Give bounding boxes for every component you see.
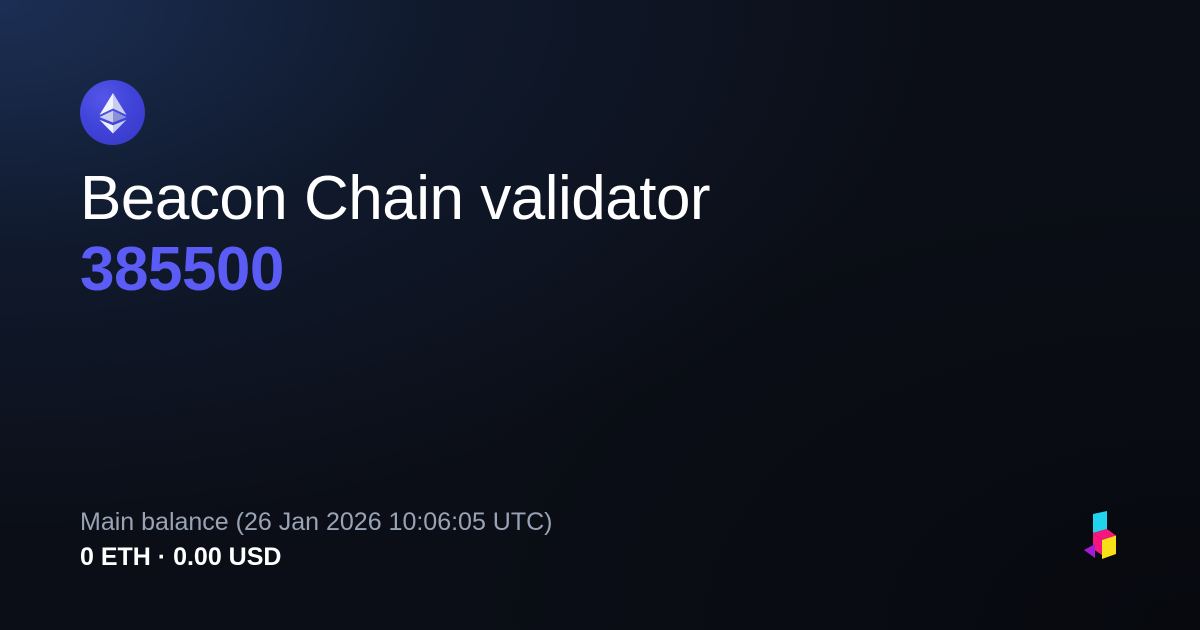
footer: Main balance (26 Jan 2026 10:06:05 UTC) … xyxy=(80,510,1120,570)
layout-spacer xyxy=(80,301,1120,510)
beaconchain-logo-icon xyxy=(1080,510,1120,568)
balance-block: Main balance (26 Jan 2026 10:06:05 UTC) … xyxy=(80,510,553,570)
validator-index: 385500 xyxy=(80,238,1120,301)
page-title: Beacon Chain validator xyxy=(80,167,1120,230)
card-content: Beacon Chain validator 385500 Main balan… xyxy=(0,0,1200,630)
balance-value: 0 ETH · 0.00 USD xyxy=(80,545,553,570)
balance-label: Main balance (26 Jan 2026 10:06:05 UTC) xyxy=(80,510,553,535)
ethereum-diamond-icon xyxy=(80,80,145,145)
og-card: Beacon Chain validator 385500 Main balan… xyxy=(0,0,1200,630)
